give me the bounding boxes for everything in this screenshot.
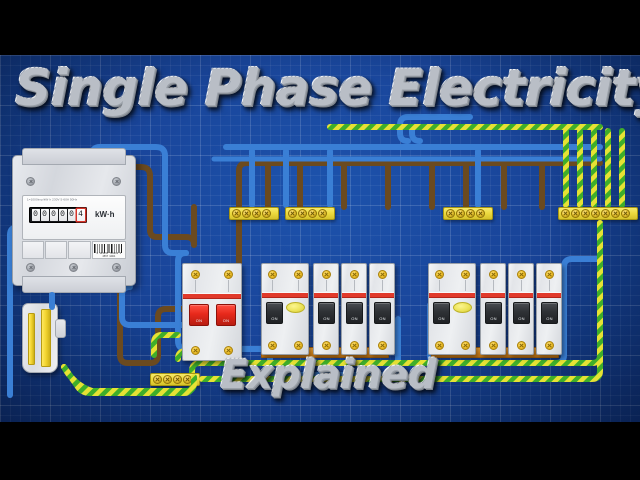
video-thumbnail: ON ON ON ON: [0, 0, 640, 480]
breaker-red-stripe: [429, 292, 475, 298]
screw-icon: [545, 341, 554, 350]
meter-digit-decimal: 4: [77, 209, 85, 221]
screw-icon: [350, 270, 359, 279]
meter-blank-cell: [22, 241, 44, 259]
terminal-screw[interactable]: [173, 375, 182, 384]
terminal-screw[interactable]: [183, 375, 192, 384]
breaker-toggle[interactable]: ON: [485, 302, 502, 324]
breaker-toggle-pole-1[interactable]: ON: [189, 304, 209, 326]
screw-icon: [191, 346, 200, 355]
breaker-rcd-left[interactable]: ON: [261, 263, 309, 355]
screw-icon: [435, 341, 444, 350]
terminal-screw[interactable]: [262, 209, 271, 218]
screw-icon: [489, 341, 498, 350]
screw-icon: [517, 341, 526, 350]
meter-unit-label: kW·h: [95, 210, 115, 219]
breaker-toggle[interactable]: ON: [346, 302, 363, 324]
meter-face: 1=1000imp/kW·h 230V 5-60A 50Hz 0 0 0 0 0…: [22, 195, 126, 240]
terminal-screw[interactable]: [242, 209, 251, 218]
plug-pin-live: [41, 309, 51, 367]
breaker-toggle[interactable]: ON: [266, 302, 283, 324]
terminal-block-neutral-bar-left-a[interactable]: [229, 207, 279, 220]
meter-digit: 0: [50, 209, 58, 221]
screw-icon: [268, 270, 277, 279]
terminal-block-earth-bar-main[interactable]: [558, 207, 638, 220]
screw-icon: [378, 270, 387, 279]
meter-bolt: [69, 263, 78, 272]
screw-icon: [489, 270, 498, 279]
breaker-red-stripe: [481, 292, 505, 298]
hang-line: [549, 280, 550, 291]
meter-bolt: [26, 177, 35, 186]
terminal-block-neutral-bar-left-b[interactable]: [285, 207, 335, 220]
toggle-label: ON: [514, 316, 529, 321]
rcd-test-button[interactable]: [453, 302, 472, 313]
screw-icon: [545, 270, 554, 279]
meter-barcode: 0 123456 789012 3 4567 8901: [92, 241, 126, 259]
screw-icon: [517, 270, 526, 279]
toggle-label: ON: [347, 316, 362, 321]
blueprint-background: ON ON ON ON: [0, 55, 640, 422]
screw-icon: [435, 270, 444, 279]
meter-bolt: [26, 263, 35, 272]
breaker-red-stripe: [509, 292, 533, 298]
terminal-screw[interactable]: [591, 209, 600, 218]
hang-line: [382, 280, 383, 291]
terminal-screw[interactable]: [621, 209, 630, 218]
breaker-mcb-left-2[interactable]: ON: [341, 263, 367, 355]
meter-spec-text: 1=1000imp/kW·h 230V 5-60A 50Hz: [27, 198, 135, 201]
letterbox-bar-bottom: [0, 422, 640, 480]
terminal-screw[interactable]: [308, 209, 317, 218]
toggle-label: ON: [542, 316, 557, 321]
screw-icon: [461, 270, 470, 279]
breaker-mcb-right-3[interactable]: ON: [536, 263, 562, 355]
hang-line: [465, 280, 466, 291]
breaker-toggle[interactable]: ON: [374, 302, 391, 324]
hang-line: [272, 280, 273, 291]
meter-bolt: [112, 177, 121, 186]
toggle-label: ON: [434, 316, 449, 321]
plug-pin-neutral: [28, 313, 35, 365]
hang-line: [298, 280, 299, 291]
terminal-screw[interactable]: [252, 209, 261, 218]
breaker-red-stripe: [370, 292, 394, 298]
terminal-screw[interactable]: [318, 209, 327, 218]
toggle-label: ON: [190, 318, 208, 323]
electricity-meter[interactable]: 1=1000imp/kW·h 230V 5-60A 50Hz 0 0 0 0 0…: [12, 155, 136, 286]
terminal-screw[interactable]: [456, 209, 465, 218]
breaker-red-stripe: [183, 293, 241, 299]
terminal-screw[interactable]: [611, 209, 620, 218]
hang-line: [195, 280, 196, 292]
meter-bottom-flange: [22, 276, 126, 293]
breaker-red-stripe: [537, 292, 561, 298]
terminal-screw[interactable]: [298, 209, 307, 218]
screw-icon: [322, 341, 331, 350]
breaker-toggle-pole-2[interactable]: ON: [216, 304, 236, 326]
hang-line: [439, 280, 440, 291]
breaker-mcb-left-1[interactable]: ON: [313, 263, 339, 355]
breaker-red-stripe: [314, 292, 338, 298]
plug-nub: [55, 319, 66, 338]
hang-line: [354, 280, 355, 291]
terminal-block-earth-bar-bottom[interactable]: [150, 373, 200, 386]
meter-digit: 0: [59, 209, 67, 221]
terminal-screw[interactable]: [163, 375, 172, 384]
meter-digit: 0: [32, 209, 40, 221]
breaker-red-stripe: [342, 292, 366, 298]
letterbox-bar-top: [0, 0, 640, 55]
terminal-screw[interactable]: [561, 209, 570, 218]
breaker-mcb-left-3[interactable]: ON: [369, 263, 395, 355]
screw-icon: [350, 341, 359, 350]
page-title: Single Phase Electricity: [14, 58, 640, 116]
screw-icon: [294, 270, 303, 279]
hang-line: [493, 280, 494, 291]
breaker-toggle[interactable]: ON: [541, 302, 558, 324]
terminal-screw[interactable]: [466, 209, 475, 218]
meter-blank-cell: [45, 241, 67, 259]
toggle-label: ON: [375, 316, 390, 321]
hang-line: [521, 280, 522, 291]
terminal-block-neutral-bar-right[interactable]: [443, 207, 493, 220]
screw-icon: [461, 341, 470, 350]
toggle-label: ON: [267, 316, 282, 321]
page-subtitle: Explained: [219, 351, 435, 397]
breaker-red-stripe: [262, 292, 308, 298]
breaker-mcb-right-1[interactable]: ON: [480, 263, 506, 355]
terminal-screw[interactable]: [476, 209, 485, 218]
terminal-screw[interactable]: [232, 209, 241, 218]
toggle-label: ON: [319, 316, 334, 321]
toggle-label: ON: [486, 316, 501, 321]
meter-top-flange: [22, 148, 126, 165]
terminal-screw[interactable]: [288, 209, 297, 218]
breaker-toggle[interactable]: ON: [433, 302, 450, 324]
terminal-screw[interactable]: [153, 375, 162, 384]
meter-reading-register: 0 0 0 0 0 4: [29, 207, 87, 223]
meter-blank-cell: [68, 241, 90, 259]
screw-icon: [294, 341, 303, 350]
terminal-screw[interactable]: [571, 209, 580, 218]
hang-line: [326, 280, 327, 291]
terminal-screw[interactable]: [446, 209, 455, 218]
screw-icon: [322, 270, 331, 279]
barcode-number: 0 123456 789012 3 4567 8901: [94, 252, 124, 258]
terminal-screw[interactable]: [581, 209, 590, 218]
breaker-mcb-right-2[interactable]: ON: [508, 263, 534, 355]
meter-digit: 0: [68, 209, 76, 221]
toggle-label: ON: [217, 318, 235, 323]
screw-icon: [224, 270, 233, 279]
meter-lower-panel: 0 123456 789012 3 4567 8901: [22, 241, 126, 259]
rcd-test-button[interactable]: [286, 302, 305, 313]
hang-line: [228, 280, 229, 292]
meter-bolt: [112, 263, 121, 272]
breaker-toggle[interactable]: ON: [318, 302, 335, 324]
breaker-rcd-right[interactable]: ON: [428, 263, 476, 355]
meter-digit: 0: [41, 209, 49, 221]
screw-icon: [191, 270, 200, 279]
terminal-screw[interactable]: [601, 209, 610, 218]
breaker-toggle[interactable]: ON: [513, 302, 530, 324]
supply-cable-plug[interactable]: [22, 303, 66, 378]
screw-icon: [378, 341, 387, 350]
breaker-main-isolator[interactable]: ON ON: [182, 263, 242, 361]
screw-icon: [268, 341, 277, 350]
